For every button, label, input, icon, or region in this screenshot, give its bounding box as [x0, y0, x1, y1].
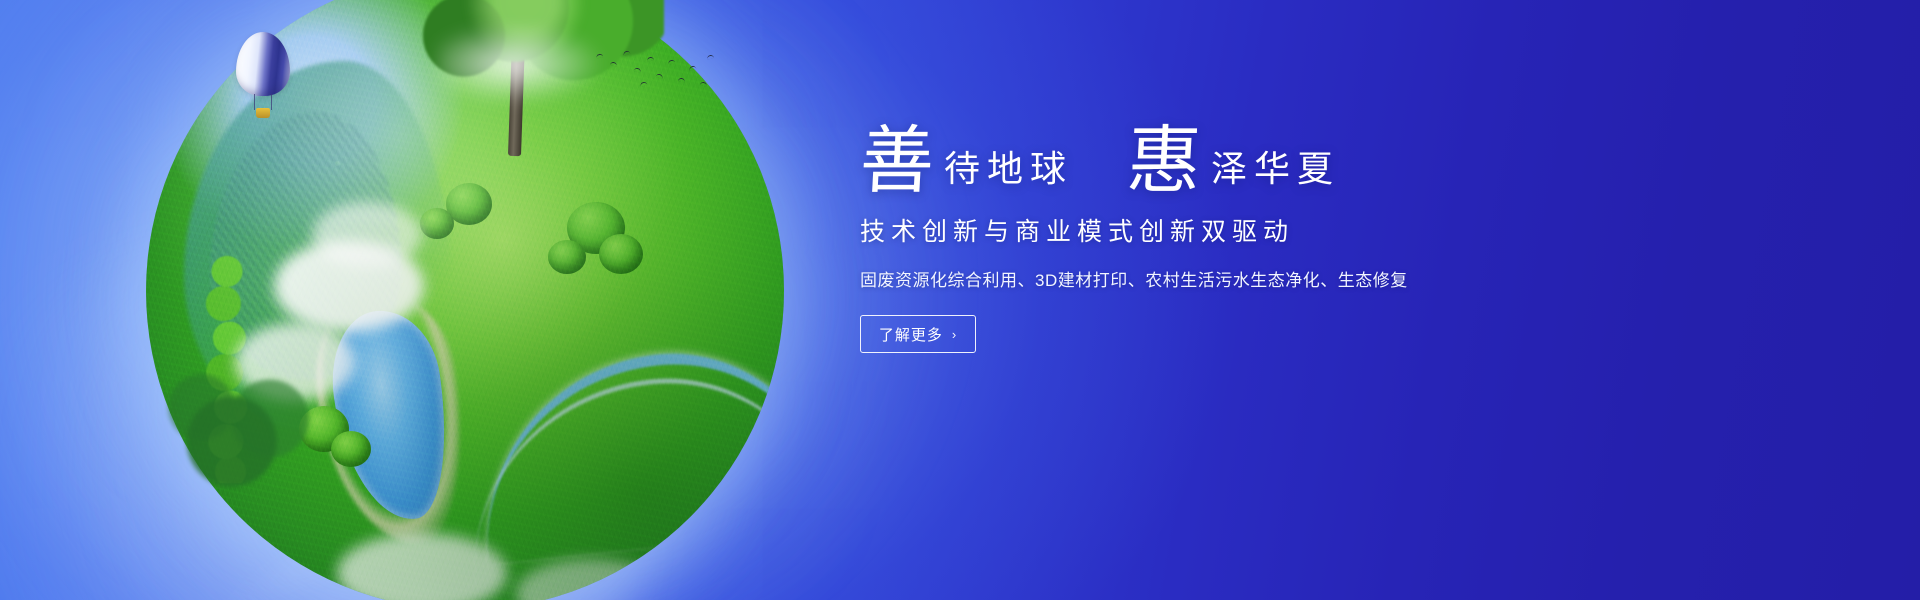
- headline-rest-1: 待地球: [934, 151, 1073, 196]
- headline: 善 待地球 惠 泽华夏: [860, 128, 1580, 196]
- bird-flock: [592, 48, 718, 94]
- headline-accent-1: 善: [858, 128, 936, 196]
- hero-banner: 善 待地球 惠 泽华夏 技术创新与商业模式创新双驱动 固废资源化综合利用、3D建…: [0, 0, 1920, 600]
- headline-phrase-2: 惠 泽华夏: [1127, 128, 1340, 196]
- hot-air-balloon: [236, 32, 294, 122]
- banner-content: 善 待地球 惠 泽华夏 技术创新与商业模式创新双驱动 固废资源化综合利用、3D建…: [860, 128, 1580, 353]
- headline-phrase-1: 善 待地球: [860, 128, 1073, 196]
- balloon-envelope: [236, 32, 290, 96]
- background-tree: [152, 316, 342, 506]
- learn-more-button[interactable]: 了解更多 ›: [860, 315, 976, 353]
- headline-accent-2: 惠: [1125, 128, 1203, 196]
- mist: [438, 28, 608, 106]
- balloon-basket: [256, 108, 270, 118]
- banner-description: 固废资源化综合利用、3D建材打印、农村生活污水生态净化、生态修复: [860, 266, 1580, 291]
- learn-more-label: 了解更多: [879, 324, 943, 345]
- banner-subtitle: 技术创新与商业模式创新双驱动: [860, 212, 1580, 248]
- headline-rest-2: 泽华夏: [1201, 151, 1340, 196]
- chevron-right-icon: ›: [952, 327, 957, 342]
